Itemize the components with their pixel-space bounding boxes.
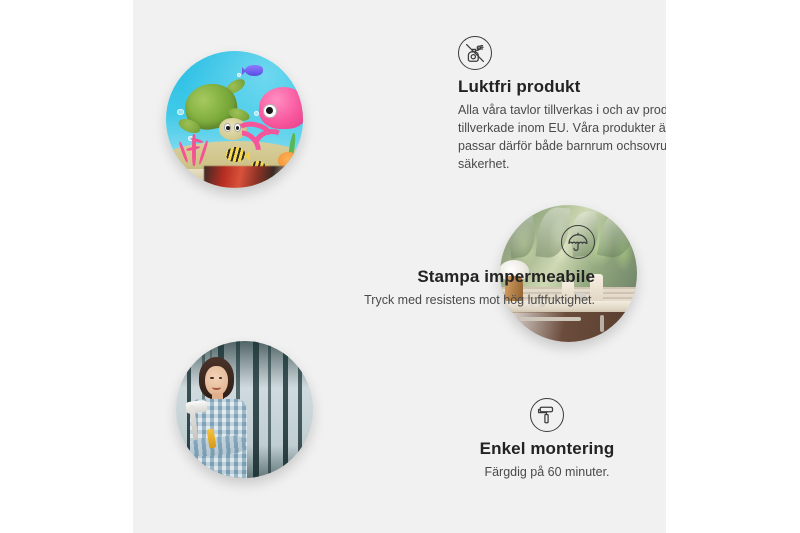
bubble-icon <box>177 109 184 116</box>
bubble-icon <box>254 111 259 116</box>
umbrella-icon <box>561 225 595 259</box>
turtle-eye <box>224 123 231 131</box>
underwater-cartoon-photo <box>166 51 303 188</box>
feature-title: Enkel montering <box>433 439 661 459</box>
feature-block-waterproof-print: Stampa impermeabile Tryck med resistens … <box>333 225 595 309</box>
forest-canopy-shade <box>176 341 313 388</box>
feature-title: Stampa impermeabile <box>333 267 595 287</box>
feature-block-easy-installation: Enkel montering Färgdig på 60 minuter. <box>433 398 661 481</box>
wooden-vanity-cabinet <box>511 312 637 342</box>
woman-eye <box>210 377 214 379</box>
feature-icon-wrap <box>333 225 595 259</box>
woman-face <box>205 366 228 396</box>
feature-block-odourless-product: Luktfri produkt Alla våra tavlor tillver… <box>458 36 666 174</box>
octopus-eye <box>263 104 277 118</box>
leaf-motif <box>597 206 637 260</box>
coral <box>174 125 215 166</box>
feature-icon-wrap <box>433 398 661 432</box>
paint-roller-icon <box>530 398 564 432</box>
feature-icon-wrap <box>458 36 666 70</box>
woman-smile <box>212 384 221 390</box>
feature-title: Luktfri produkt <box>458 77 666 97</box>
woman-eye <box>219 377 223 379</box>
feature-body: Tryck med resistens mot hög luftfuktighe… <box>333 291 595 309</box>
octopus-head <box>259 87 303 129</box>
feature-body: Färgdig på 60 minuter. <box>433 463 661 481</box>
butterfly-fish <box>226 147 245 162</box>
screenshot-root: Luktfri produkt Alla våra tavlor tillver… <box>0 0 800 533</box>
feature-body: Alla våra tavlor tillverkas i och av pro… <box>458 101 666 174</box>
product-feature-panel: Luktfri produkt Alla våra tavlor tillver… <box>133 0 666 533</box>
purple-fish <box>245 65 263 76</box>
lower-photo-band <box>204 166 294 188</box>
no-fragrance-spray-icon <box>458 36 492 70</box>
woman-paint-roller-forest-photo <box>176 341 313 478</box>
